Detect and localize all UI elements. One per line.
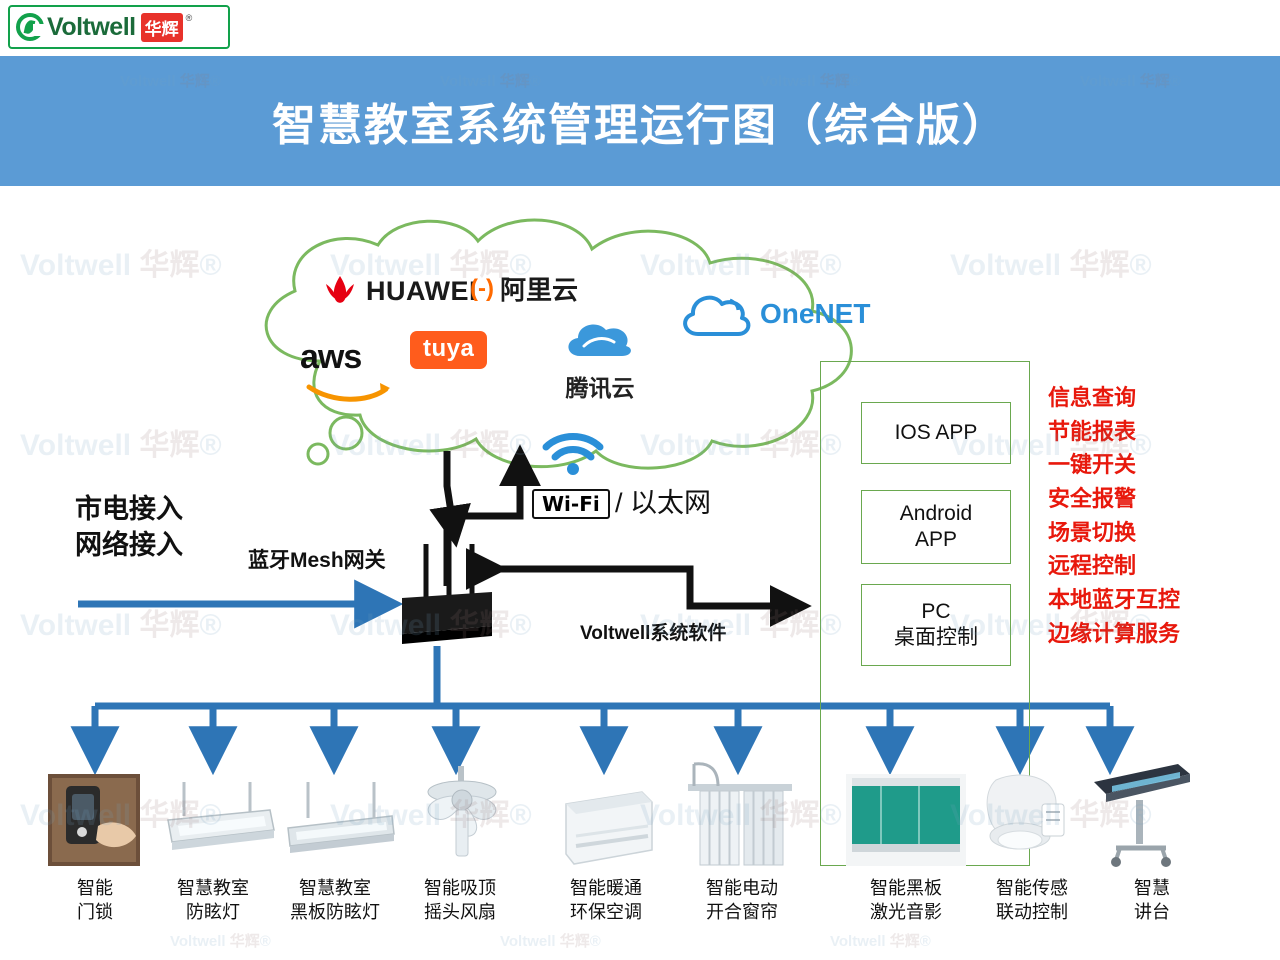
feature-item-1: 节能报表 <box>1048 415 1180 449</box>
device-label-2-line1: 智慧教室 <box>275 876 395 900</box>
hvac-air-conditioner-icon <box>556 786 656 868</box>
device-label-0-line2: 门锁 <box>35 900 155 924</box>
brand-logo-cn: 华辉 <box>141 13 183 42</box>
page-title: 智慧教室系统管理运行图（综合版） <box>272 89 1008 153</box>
device-label-8-line2: 讲台 <box>1092 900 1212 924</box>
device-label-0: 智能 门锁 <box>35 876 155 925</box>
device-label-1-line2: 防眩灯 <box>153 900 273 924</box>
device-label-7-line1: 智能传感 <box>972 876 1092 900</box>
app-pc-line2: 桌面控制 <box>894 626 978 649</box>
feature-item-2: 一键开关 <box>1048 448 1180 482</box>
sensor-linkage-control-icon <box>972 774 1072 866</box>
app-android-line1: Android <box>900 502 972 525</box>
blackboard-anti-glare-light-icon <box>280 776 398 868</box>
app-android-line2: APP <box>915 528 957 551</box>
logo-bar: Voltwell 华辉 ® <box>0 0 1280 56</box>
device-label-5: 智能电动 开合窗帘 <box>682 876 802 925</box>
device-label-3-line1: 智能吸顶 <box>400 876 520 900</box>
device-label-6: 智能黑板 激光音影 <box>846 876 966 925</box>
gateway-router-icon <box>402 538 492 644</box>
device-label-5-line1: 智能电动 <box>682 876 802 900</box>
device-label-4: 智能暖通 环保空调 <box>546 876 666 925</box>
device-label-7: 智能传感 联动控制 <box>972 876 1092 925</box>
brand-logo-text: Voltwell <box>47 13 136 42</box>
feature-item-7: 边缘计算服务 <box>1048 617 1180 651</box>
feature-list: 信息查询 节能报表 一键开关 安全报警 场景切换 远程控制 本地蓝牙互控 边缘计… <box>1048 381 1180 650</box>
smart-blackboard-projector-icon <box>846 774 966 866</box>
device-label-8-line1: 智慧 <box>1092 876 1212 900</box>
device-label-2-line2: 黑板防眩灯 <box>275 900 395 924</box>
brand-logo: Voltwell 华辉 ® <box>8 5 230 49</box>
title-band: 智慧教室系统管理运行图（综合版） <box>0 56 1280 186</box>
smart-podium-icon <box>1086 756 1196 868</box>
app-pc-line1: PC <box>921 600 950 623</box>
classroom-anti-glare-light-icon <box>158 776 276 868</box>
device-label-3: 智能吸顶 摇头风扇 <box>400 876 520 925</box>
app-pc[interactable]: PC 桌面控制 <box>861 584 1011 666</box>
feature-item-4: 场景切换 <box>1048 516 1180 550</box>
feature-item-3: 安全报警 <box>1048 482 1180 516</box>
device-label-0-line1: 智能 <box>35 876 155 900</box>
device-label-3-line2: 摇头风扇 <box>400 900 520 924</box>
device-label-4-line2: 环保空调 <box>546 900 666 924</box>
ceiling-fan-icon <box>412 766 512 870</box>
diagram-canvas: HUAWEI (-) 阿里云 OneNET aws tuya 腾讯云 <box>0 186 1280 960</box>
feature-item-0: 信息查询 <box>1048 381 1180 415</box>
device-label-6-line1: 智能黑板 <box>846 876 966 900</box>
device-label-6-line2: 激光音影 <box>846 900 966 924</box>
device-label-1: 智慧教室 防眩灯 <box>153 876 273 925</box>
device-label-1-line1: 智慧教室 <box>153 876 273 900</box>
voltwell-c-icon <box>16 13 44 41</box>
device-label-2: 智慧教室 黑板防眩灯 <box>275 876 395 925</box>
app-android[interactable]: Android APP <box>861 490 1011 564</box>
feature-item-6: 本地蓝牙互控 <box>1048 583 1180 617</box>
app-ios[interactable]: IOS APP <box>861 402 1011 464</box>
smart-door-lock-icon <box>48 774 140 866</box>
device-label-7-line2: 联动控制 <box>972 900 1092 924</box>
feature-item-5: 远程控制 <box>1048 549 1180 583</box>
motorized-curtain-icon <box>684 756 796 868</box>
device-label-8: 智慧 讲台 <box>1092 876 1212 925</box>
device-label-5-line2: 开合窗帘 <box>682 900 802 924</box>
registered-trademark-icon: ® <box>186 13 193 23</box>
device-label-4-line1: 智能暖通 <box>546 876 666 900</box>
